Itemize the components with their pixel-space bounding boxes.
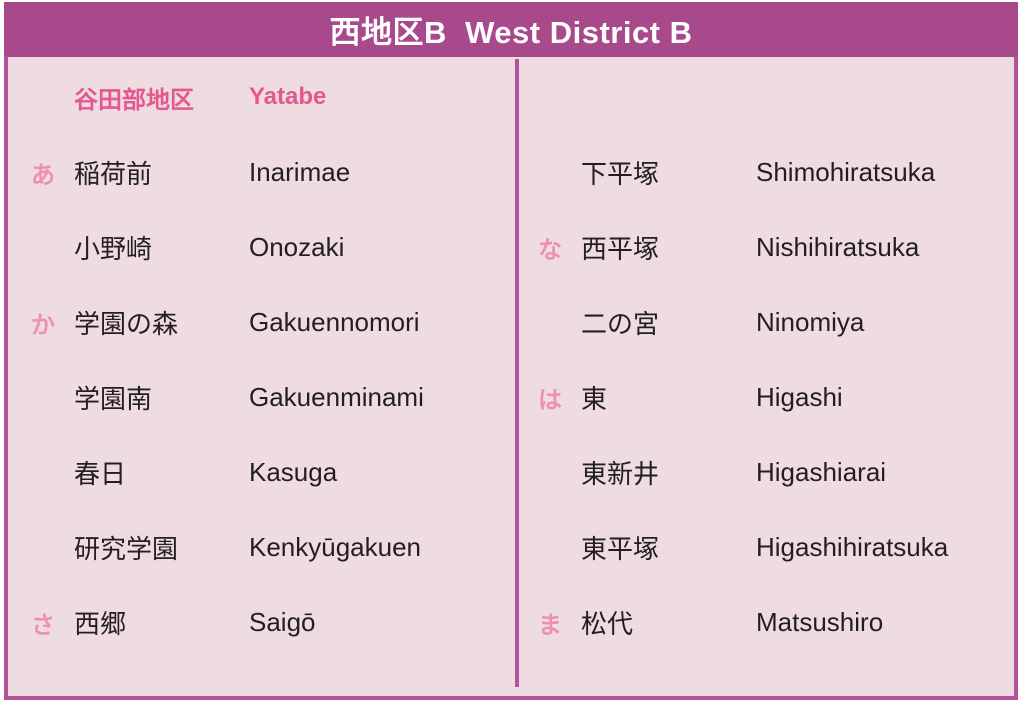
list-item: 東新井 Higashiarai	[519, 452, 1022, 492]
place-japanese: 学園南	[74, 379, 249, 416]
subheader-yatabe: 谷田部地区 Yatabe	[12, 77, 515, 117]
list-item: 学園南 Gakuenminami	[12, 377, 515, 417]
place-japanese: 東	[581, 379, 756, 416]
kana-marker: か	[12, 305, 74, 340]
kana-marker: な	[519, 230, 581, 265]
place-romaji: Gakuennomori	[249, 307, 515, 338]
page-title: 西地区B West District B	[329, 7, 692, 52]
place-japanese: 下平塚	[581, 154, 756, 191]
place-romaji: Matsushiro	[756, 607, 1022, 638]
place-romaji: Saigō	[249, 607, 515, 638]
place-japanese: 小野崎	[74, 229, 249, 266]
place-romaji: Higashi	[756, 382, 1022, 413]
list-item: 東平塚 Higashihiratsuka	[519, 527, 1022, 567]
place-romaji: Higashihiratsuka	[756, 532, 1022, 563]
place-japanese: 東新井	[581, 454, 756, 491]
list-item: さ 西郷 Saigō	[12, 602, 515, 642]
place-japanese: 春日	[74, 454, 249, 491]
list-item: 小野崎 Onozaki	[12, 227, 515, 267]
list-item: か 学園の森 Gakuennomori	[12, 302, 515, 342]
kana-marker: さ	[12, 605, 74, 640]
subheader-romaji: Yatabe	[249, 83, 515, 111]
place-japanese: 西平塚	[581, 229, 756, 266]
list-item: ま 松代 Matsushiro	[519, 602, 1022, 642]
district-card: 谷田部地区 Yatabe あ 稲荷前 Inarimae 小野崎 Onozaki …	[4, 2, 1018, 700]
subheader-japanese: 谷田部地区	[74, 80, 249, 115]
place-japanese: 二の宮	[581, 304, 756, 341]
place-japanese: 松代	[581, 604, 756, 641]
list-item: あ 稲荷前 Inarimae	[12, 152, 515, 192]
title-bar: 西地区B West District B	[4, 2, 1018, 57]
place-japanese: 研究学園	[74, 529, 249, 566]
place-romaji: Gakuenminami	[249, 382, 515, 413]
kana-marker: ま	[519, 605, 581, 640]
place-japanese: 西郷	[74, 604, 249, 641]
kana-marker: は	[519, 380, 581, 415]
place-japanese: 東平塚	[581, 529, 756, 566]
place-romaji: Kasuga	[249, 457, 515, 488]
column-right: 下平塚 Shimohiratsuka な 西平塚 Nishihiratsuka …	[519, 59, 1022, 700]
place-romaji: Ninomiya	[756, 307, 1022, 338]
list-item: 下平塚 Shimohiratsuka	[519, 152, 1022, 192]
place-romaji: Onozaki	[249, 232, 515, 263]
list-item: 二の宮 Ninomiya	[519, 302, 1022, 342]
kana-marker: あ	[12, 155, 74, 190]
place-romaji: Shimohiratsuka	[756, 157, 1022, 188]
list-item: は 東 Higashi	[519, 377, 1022, 417]
place-japanese: 稲荷前	[74, 154, 249, 191]
column-left: 谷田部地区 Yatabe あ 稲荷前 Inarimae 小野崎 Onozaki …	[12, 59, 515, 700]
list-item: な 西平塚 Nishihiratsuka	[519, 227, 1022, 267]
place-romaji: Higashiarai	[756, 457, 1022, 488]
list-item: 春日 Kasuga	[12, 452, 515, 492]
place-japanese: 学園の森	[74, 304, 249, 341]
place-romaji: Nishihiratsuka	[756, 232, 1022, 263]
place-romaji: Inarimae	[249, 157, 515, 188]
place-romaji: Kenkyūgakuen	[249, 532, 515, 563]
list-item: 研究学園 Kenkyūgakuen	[12, 527, 515, 567]
